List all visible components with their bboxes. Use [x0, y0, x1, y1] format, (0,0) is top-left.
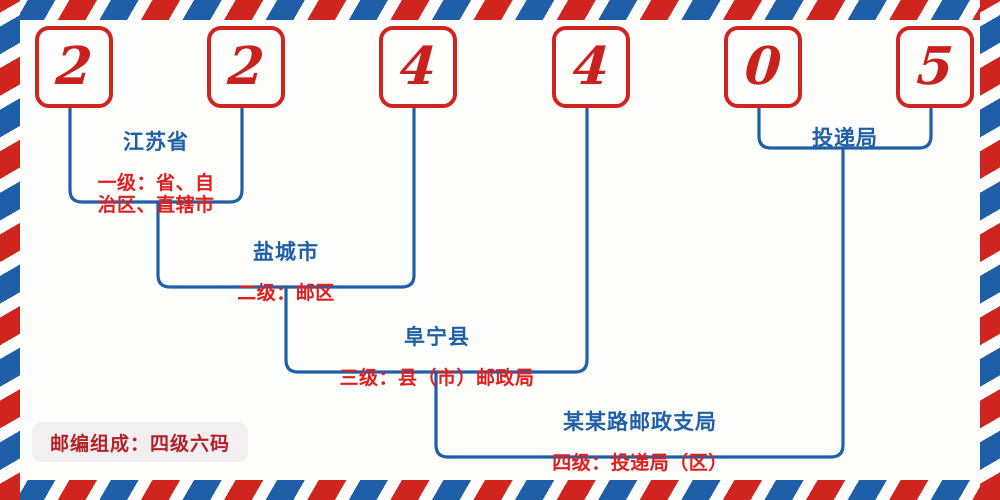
node-delivery-office-title: 投递局 — [759, 126, 931, 150]
digit-glyph-2: 2 — [226, 41, 266, 93]
node-level-1: 江苏省 一级：省、自 治区、直辖市 — [70, 112, 242, 234]
digit-glyph-3: 4 — [398, 41, 438, 93]
digit-box-5[interactable]: 0 — [724, 26, 802, 108]
digit-glyph-5: 0 — [743, 41, 783, 93]
node-delivery-office: 投递局 — [759, 108, 931, 167]
digit-glyph-1: 2 — [54, 41, 94, 93]
legend-label: 邮编组成：四级六码 — [50, 429, 230, 456]
node-level-1-title: 江苏省 — [70, 130, 242, 154]
postcode-structure-infographic: 2 2 4 4 0 5 江苏省 一级：省、自 治区、直辖市 盐城市 二级：邮区 … — [0, 0, 1000, 500]
digit-box-2[interactable]: 2 — [207, 26, 285, 108]
legend-pill: 邮编组成：四级六码 — [32, 422, 248, 462]
node-level-2-title: 盐城市 — [158, 240, 414, 264]
digit-box-6[interactable]: 5 — [896, 26, 974, 108]
digit-box-3[interactable]: 4 — [379, 26, 457, 108]
digit-box-1[interactable]: 2 — [35, 26, 113, 108]
digit-box-4[interactable]: 4 — [552, 26, 630, 108]
node-level-4-title: 某某路邮政支局 — [437, 410, 843, 434]
node-level-3-subtitle: 三级：县（市）邮政局 — [287, 368, 587, 389]
node-level-4: 某某路邮政支局 四级：投递局（区） — [437, 392, 843, 493]
digit-glyph-4: 4 — [571, 41, 611, 93]
node-level-2-subtitle: 二级：邮区 — [158, 283, 414, 304]
digit-glyph-6: 5 — [915, 41, 955, 93]
node-level-3-title: 阜宁县 — [287, 325, 587, 349]
node-level-1-subtitle: 一级：省、自 治区、直辖市 — [70, 173, 242, 216]
node-level-4-subtitle: 四级：投递局（区） — [437, 453, 843, 474]
